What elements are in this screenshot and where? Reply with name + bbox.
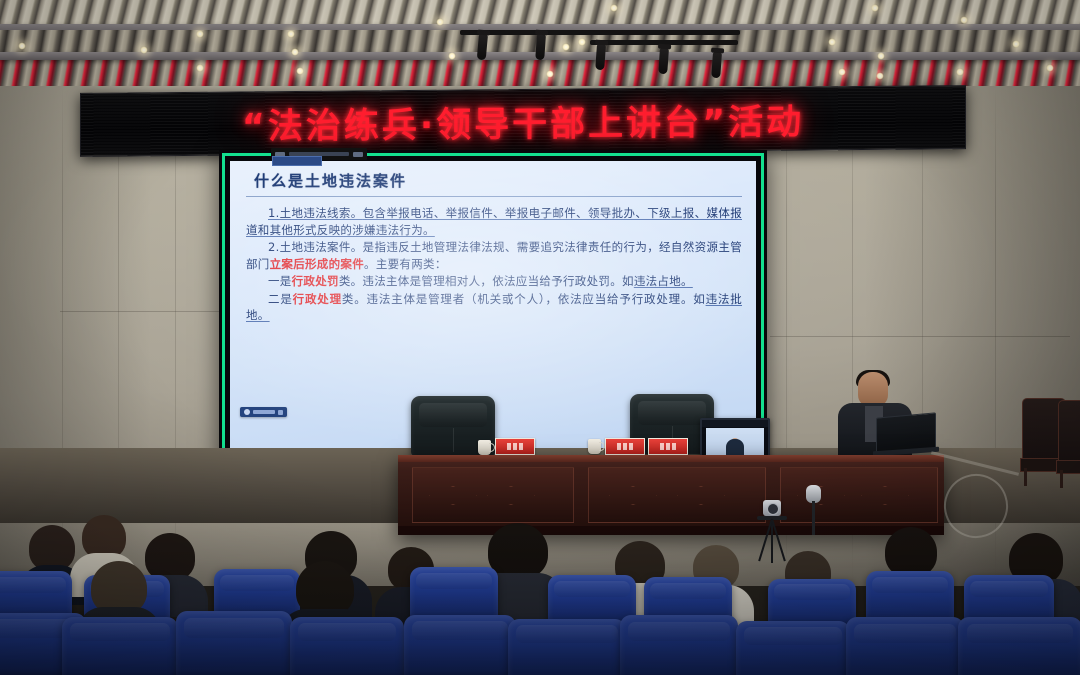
ceiling-downlight (436, 18, 444, 26)
para3-body: 类。违法主体是管理相对人，依法应当给予行政处罚。如 (339, 274, 634, 288)
ceiling-downlight (610, 4, 618, 12)
track-spotlight (658, 48, 669, 75)
ceiling-downlight (838, 68, 846, 76)
ceiling-downlight (871, 4, 879, 12)
auditorium-seat (404, 615, 516, 675)
slide-title-rule (246, 196, 742, 197)
ceiling-downlight (578, 38, 586, 46)
ceiling-downlight (1012, 40, 1020, 48)
ceiling-downlight (140, 46, 148, 54)
audience-area (0, 505, 1080, 675)
conference-hall-photo: “法治练兵·领导干部上讲台”活动 什么是土地违法案件 1.土地违法线索。包含举报… (0, 0, 1080, 675)
ceiling-downlight (877, 52, 885, 60)
slide-paragraph-4: 二是行政处理类。违法主体是管理者（机关或个人），依法应当给予行政处理。如违法批地… (246, 291, 742, 324)
auditorium-seat (736, 621, 850, 675)
ceiling-downlight (1046, 64, 1054, 72)
toolbar-record-icon[interactable] (244, 409, 250, 415)
led-banner-text: “法治练兵·领导干部上讲台”活动 (242, 93, 804, 149)
auditorium-seat (508, 619, 626, 675)
track-spotlight (535, 34, 546, 61)
speaker-head (858, 372, 888, 407)
led-banner: “法治练兵·领导干部上讲台”活动 (80, 85, 966, 157)
presentation-toolbar[interactable] (240, 407, 287, 417)
para4-body: 类。违法主体是管理者（机关或个人），依法应当给予行政处理。如 (342, 292, 706, 306)
para3-underline: 违法占地。 (634, 274, 693, 288)
ceiling-downlight (196, 30, 204, 38)
slide-paragraph-1: 1.土地违法线索。包含举报电话、举报信件、举报电子邮件、领导批办、下级上报、媒体… (246, 205, 742, 238)
para3-prefix: 一是 (268, 274, 292, 288)
toolbar-stop-icon[interactable] (278, 410, 283, 415)
track-spotlight (595, 44, 606, 71)
para2-highlight: 立案后形成的案件 (270, 257, 364, 271)
ceiling-downlight (828, 38, 836, 46)
ceiling-downlight (18, 42, 26, 50)
para3-highlight: 行政处罚 (292, 274, 339, 288)
ceiling-downlight (296, 67, 304, 75)
placard-2 (605, 438, 645, 455)
auditorium-seat (176, 611, 292, 675)
para2-lead: 土地违法案件。 (280, 240, 363, 254)
placard-3 (648, 438, 688, 455)
ceiling-downlight (196, 64, 204, 72)
ceiling-downlight (287, 30, 295, 38)
para1-number: 1. (268, 206, 280, 220)
ceiling-downlight (956, 68, 964, 76)
placard-1 (495, 438, 535, 455)
auditorium-seat (620, 615, 738, 675)
slide-paragraph-2: 2.土地违法案件。是指违反土地管理法律法规、需要追究法律责任的行为，经自然资源主… (246, 239, 742, 272)
toolbar-label-bar (253, 410, 275, 414)
speaker-laptop (876, 415, 938, 455)
mug-2 (588, 439, 601, 454)
ceiling-downlight (291, 48, 299, 56)
auditorium-seat (62, 617, 178, 675)
ceiling-downlight (546, 70, 554, 78)
para4-highlight: 行政处理 (293, 292, 342, 306)
track-spotlight (711, 52, 722, 79)
ceiling (0, 0, 1080, 92)
para4-prefix: 二是 (268, 292, 293, 306)
side-chair (1058, 400, 1080, 486)
ceiling-downlight (960, 16, 968, 24)
slide-title: 什么是土地违法案件 (246, 169, 742, 195)
ceiling-downlight (562, 43, 570, 51)
spotlight-rail (460, 30, 740, 35)
mug-1 (478, 440, 491, 455)
auditorium-seat (290, 617, 404, 675)
para1-lead: 土地违法线索。 (280, 206, 363, 220)
slide-paragraph-3: 一是行政处罚类。违法主体是管理相对人，依法应当给予行政处罚。如违法占地。 (246, 273, 742, 290)
para2-number: 2. (268, 240, 280, 254)
ceiling-downlight (876, 72, 884, 80)
auditorium-seat (846, 617, 964, 675)
auditorium-seat (958, 617, 1080, 675)
para2-body-b: 。主要有两类： (364, 257, 447, 271)
ceiling-downlight (448, 52, 456, 60)
window-title-chip (272, 156, 322, 166)
